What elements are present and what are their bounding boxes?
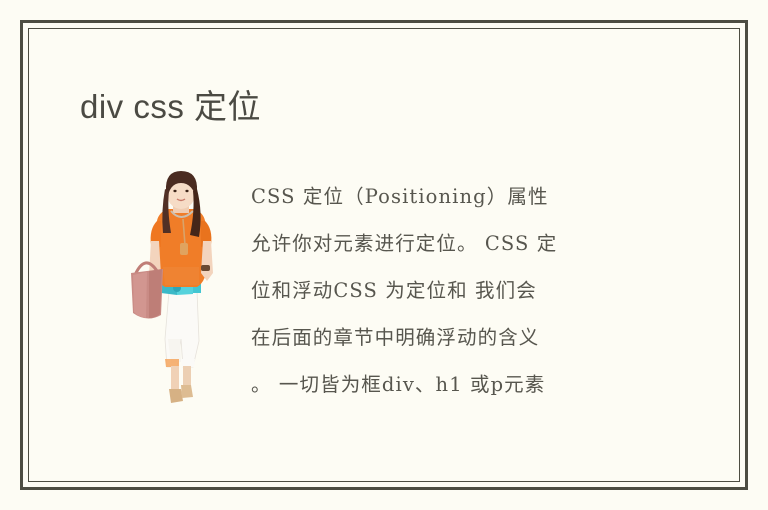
body-line: 允许你对元素进行定位。 CSS 定 xyxy=(251,220,671,267)
woman-walking-photo xyxy=(127,171,235,409)
body-copy: CSS 定位（Positioning）属性 允许你对元素进行定位。 CSS 定 … xyxy=(251,173,671,408)
body-line: 。 一切皆为框div、h1 或p元素 xyxy=(251,361,671,408)
page-frame: div css 定位 xyxy=(20,20,748,490)
page-title: div css 定位 xyxy=(80,85,261,129)
body-line: 位和浮动CSS 为定位和 我们会 xyxy=(251,267,671,314)
body-line: CSS 定位（Positioning）属性 xyxy=(251,173,671,220)
body-line: 在后面的章节中明确浮动的含义 xyxy=(251,314,671,361)
content-area: CSS 定位（Positioning）属性 允许你对元素进行定位。 CSS 定 … xyxy=(51,153,717,459)
